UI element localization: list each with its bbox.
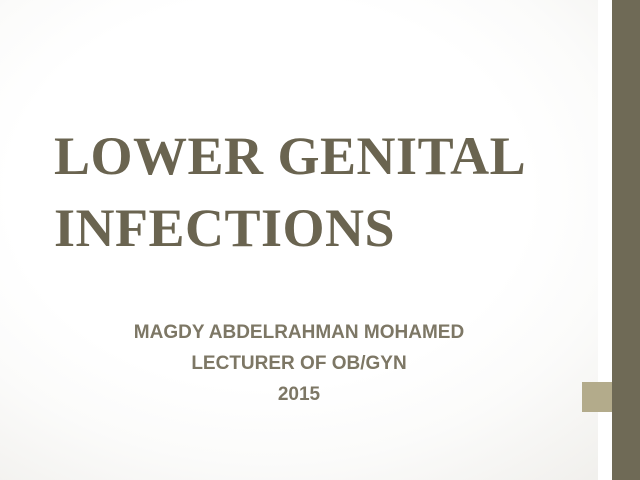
right-accent-square bbox=[582, 382, 612, 412]
subtitle-role: LECTURER OF OB/GYN bbox=[30, 349, 568, 380]
slide-subtitle: MAGDY ABDELRAHMAN MOHAMED LECTURER OF OB… bbox=[30, 318, 568, 410]
subtitle-author: MAGDY ABDELRAHMAN MOHAMED bbox=[30, 318, 568, 349]
right-decorative-bar bbox=[612, 0, 640, 480]
subtitle-year: 2015 bbox=[30, 380, 568, 411]
slide-title: LOWER GENITAL INFECTIONS bbox=[54, 120, 554, 265]
slide-content: LOWER GENITAL INFECTIONS MAGDY ABDELRAHM… bbox=[0, 0, 598, 480]
presentation-slide: LOWER GENITAL INFECTIONS MAGDY ABDELRAHM… bbox=[0, 0, 640, 480]
